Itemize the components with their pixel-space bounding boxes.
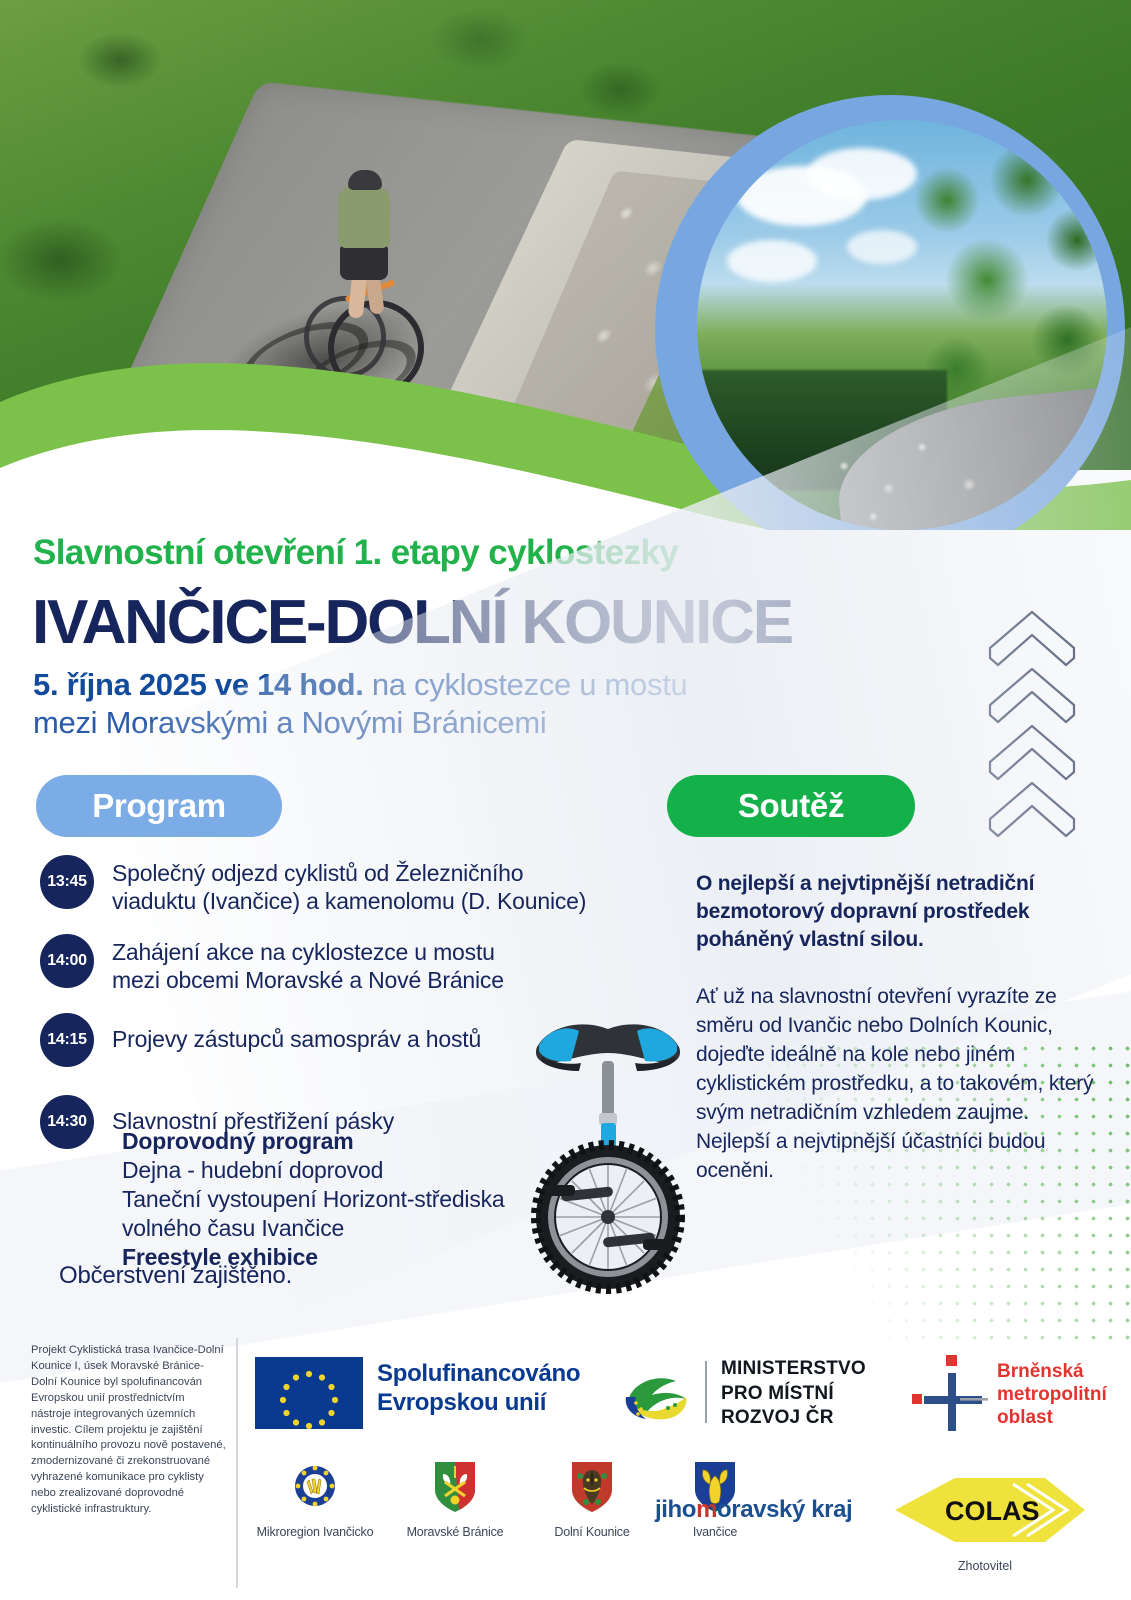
bmo-line2: metropolitní [997,1384,1107,1405]
supporting-program-heading: Doprovodný program [122,1128,354,1154]
kicker-title: Slavnostní otevření 1. etapy cyklostezky [33,533,833,573]
crest-moravske-branice: Moravské Bránice [395,1460,515,1539]
list-item: 13:45 Společný odjezd cyklistů od Železn… [40,855,600,915]
colas-logo-icon: COLAS [885,1470,1085,1550]
brno-metropolitan-cross-icon [910,1351,994,1435]
ministry-line2: PRO MÍSTNÍ [721,1383,834,1404]
list-item: 14:00 Zahájení akce na cyklostezce u mos… [40,934,600,994]
supporting-program-line2: Taneční vystoupení Horizont-střediska [122,1186,505,1212]
colas-brand-text: COLAS [945,1496,1040,1526]
program-pill: Program [36,775,282,837]
crest-label: Mikroregion Ivančicko [255,1525,375,1539]
eu-funding-label: Spolufinancováno Evropskou unií [377,1359,607,1418]
contest-lead-line2: bezmotorový dopravní prostředek [696,900,1029,923]
ministry-label: MINISTERSTVO PRO MÍSTNÍ ROZVOJ ČR [721,1357,921,1431]
chevron-up-icon [990,726,1074,779]
mmr-divider [705,1361,707,1423]
contest-pill: Soutěž [667,775,915,837]
crest-mikroregion-ivancicko: Mikroregion Ivančicko [255,1460,375,1539]
contest-pill-label: Soutěž [738,787,844,825]
contest-lead-line3: poháněný vlastní silou. [696,928,924,951]
program-pill-label: Program [92,787,226,825]
poster-root: Slavnostní otevření 1. etapy cyklostezky… [0,0,1131,1600]
contest-lead-text: O nejlepší a nejvtipnější netradiční bez… [696,870,1096,954]
program-item-line2: viaduktu (Ivančice) a kamenolomu (D. Kou… [112,888,586,914]
chevron-up-icon [990,783,1074,836]
chevron-up-icon [990,612,1074,665]
program-item-text: Zahájení akce na cyklostezce u mostu mez… [112,934,504,994]
crest-label: Ivančice [655,1525,775,1539]
status-badge: 14:30 [40,1095,94,1149]
contest-lead-line1: O nejlepší a nejvtipnější netradiční [696,872,1034,895]
program-item-line1: Společný odjezd cyklistů od Železničního [112,860,523,886]
program-item-line1: Zahájení akce na cyklostezce u mostu [112,939,495,965]
program-item-line1: Projevy zástupců samospráv a hostů [112,1026,481,1052]
program-item-line2: mezi obcemi Moravské a Nové Bránice [112,967,504,993]
circular-inset-photo [655,95,1125,530]
funding-logos-row: Spolufinancováno Evropskou unií MINISTER… [255,1343,1115,1443]
unicycle-wheel [536,1145,680,1289]
crest-dolni-kounice-icon [570,1460,614,1514]
chevron-up-icon [990,669,1074,722]
mmr-logo-icon [622,1361,690,1423]
ministry-line1: MINISTERSTVO [721,1358,866,1379]
colas-caption: Zhotovitel [885,1559,1085,1573]
jmk-part-m: m [696,1496,717,1523]
cyclist-helmet [348,170,382,190]
crest-label: Dolní Kounice [532,1525,652,1539]
program-item-text: Projevy zástupců samospráv a hostů [112,1013,481,1053]
jihomoravsky-kraj-logo: jihomoravský kraj [655,1496,852,1524]
refreshments-note: Občerstvení zajištěno. [59,1262,292,1290]
cyclist-backpack [338,186,390,248]
bmo-line1: Brněnská [997,1361,1084,1382]
eu-label-line1: Spolufinancováno [377,1360,580,1387]
brno-metropolitan-label: Brněnská metropolitní oblast [997,1361,1131,1429]
status-badge: 13:45 [40,855,94,909]
footer-divider [236,1338,238,1588]
ministry-line3: ROZVOJ ČR [721,1407,834,1428]
contest-body-text: Ať už na slavnostní otevření vyrazíte ze… [696,983,1096,1186]
supporting-program-line1: Dejna - hudební doprovod [122,1157,383,1183]
unicycle-seatpost [602,1061,614,1119]
cloud-3 [727,240,817,282]
supporting-program-line3: volného času Ivančice [122,1215,344,1241]
supporting-program-block: Doprovodný program Dejna - hudební dopro… [122,1127,552,1272]
status-badge: 14:00 [40,934,94,988]
crest-dolni-kounice: Dolní Kounice [532,1460,652,1539]
bmo-line3: oblast [997,1407,1053,1428]
eu-label-line2: Evropskou unií [377,1389,546,1416]
project-funding-text: Projekt Cyklistická trasa Ivančice-Dolní… [31,1343,227,1518]
colas-logo: COLAS Zhotovitel [885,1470,1085,1573]
event-location-part1: na cyklostezce u mostu [364,667,688,702]
crest-mikroregion-ivancicko-icon [293,1460,337,1514]
crest-moravske-branice-icon [433,1460,477,1514]
crest-label: Moravské Bránice [395,1525,515,1539]
event-date-location: 5. října 2025 ve 14 hod. na cyklostezce … [33,666,903,743]
status-badge: 14:15 [40,1013,94,1067]
jmk-part2: oravský kraj [717,1496,852,1523]
page-title: IVANČICE-DOLNÍ KOUNICE [32,587,932,658]
inset-photo-river-path [697,120,1107,530]
jmk-part1: jiho [655,1496,696,1523]
program-item-text: Společný odjezd cyklistů od Železničního… [112,855,586,915]
event-date: 5. října 2025 ve 14 hod. [33,667,364,702]
event-location-part2: mezi Moravskými a Novými Bránicemi [33,705,546,740]
chevron-up-icon-group [980,610,1100,840]
hero-section [0,0,1131,530]
eu-flag-icon [255,1357,363,1429]
partner-logos-row: Mikroregion Ivančicko Moravské Bránice [255,1460,1115,1590]
unicycle-illustration [505,995,715,1295]
